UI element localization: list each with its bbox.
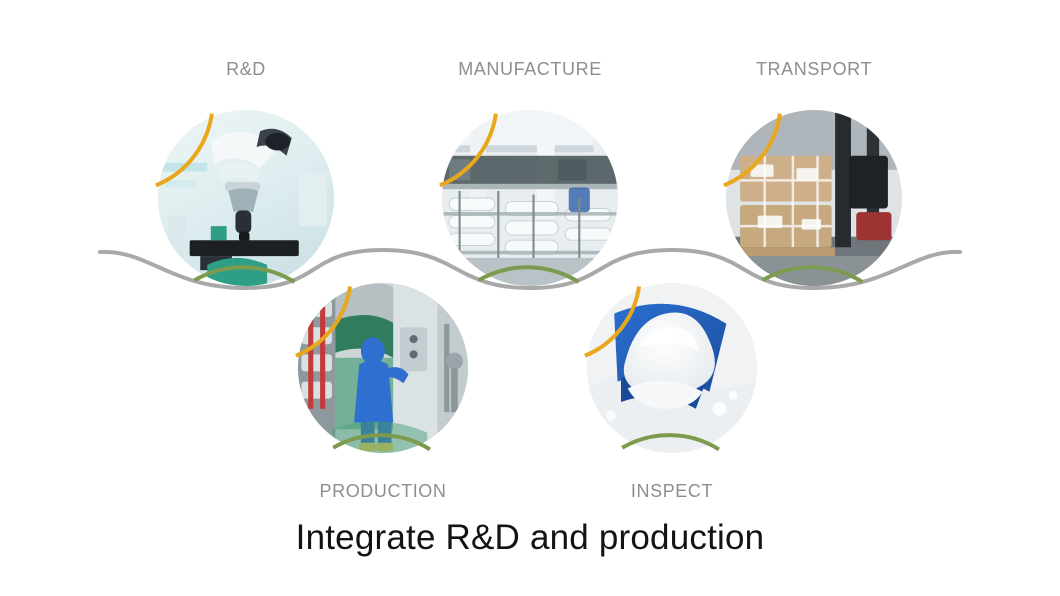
node-label-transport: TRANSPORT (756, 59, 872, 80)
node-label-inspect: INSPECT (631, 481, 713, 502)
process-node-production[interactable]: PRODUCTION (284, 269, 482, 467)
node-ring-arcs (284, 269, 482, 467)
node-ring-wrapper: INSPECT (573, 269, 771, 467)
ring-arc-green (479, 267, 579, 282)
infographic-canvas: R&D (0, 0, 1060, 596)
process-node-inspect[interactable]: INSPECT (573, 269, 771, 467)
node-ring-arcs (573, 269, 771, 467)
ring-arc-gold (440, 114, 496, 186)
ring-arc-green (333, 435, 430, 449)
ring-arc-green (622, 435, 719, 449)
node-label-production: PRODUCTION (320, 481, 447, 502)
ring-arc-green (763, 267, 863, 282)
node-ring-wrapper: PRODUCTION (284, 269, 482, 467)
ring-arc-gold (585, 286, 639, 355)
node-label-rd: R&D (226, 59, 266, 80)
ring-arc-gold (724, 114, 780, 186)
node-label-manufacture: MANUFACTURE (458, 59, 602, 80)
ring-arc-gold (156, 114, 212, 186)
ring-arc-gold (296, 286, 350, 355)
page-title: Integrate R&D and production (0, 518, 1060, 558)
ring-arc-green (195, 267, 295, 282)
